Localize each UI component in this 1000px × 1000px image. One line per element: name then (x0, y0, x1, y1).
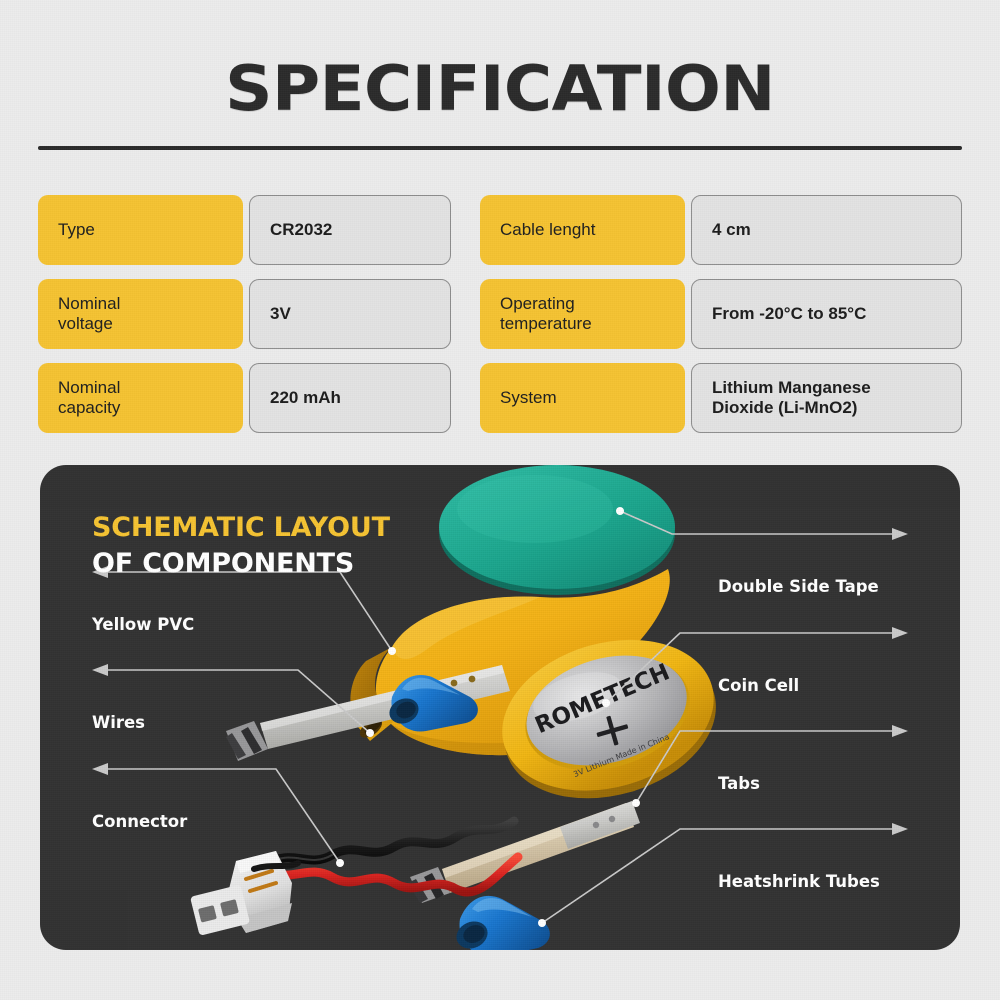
schematic-heading: SCHEMATIC LAYOUT OF COMPONENTS (92, 510, 390, 582)
callout-label-heatshrink-tubes: Heatshrink Tubes (718, 872, 880, 891)
spec-label-system: System (480, 363, 685, 433)
schematic-heading-line2: OF COMPONENTS (92, 546, 390, 582)
spec-value-operating-temperature: From -20°C to 85°C (691, 279, 962, 349)
infographic-page: SPECIFICATION Type CR2032 Cable lenght 4… (0, 0, 1000, 1000)
callout-label-tabs: Tabs (718, 774, 760, 793)
spec-value-system: Lithium ManganeseDioxide (Li-MnO2) (691, 363, 962, 433)
spec-value-nominal-capacity: 220 mAh (249, 363, 451, 433)
callout-label-coin-cell: Coin Cell (718, 676, 799, 695)
spec-value-cable-lenght: 4 cm (691, 195, 962, 265)
schematic-panel: ROMETECH 3V Lithium Made in China (40, 465, 960, 950)
spec-label-type: Type (38, 195, 243, 265)
schematic-heading-line1: SCHEMATIC LAYOUT (92, 510, 390, 546)
title-divider (38, 146, 962, 150)
callout-label-double-side-tape: Double Side Tape (718, 577, 879, 596)
callout-label-wires: Wires (92, 713, 145, 732)
spec-label-nominal-capacity: Nominalcapacity (38, 363, 243, 433)
spec-label-nominal-voltage: Nominalvoltage (38, 279, 243, 349)
callout-label-connector: Connector (92, 812, 187, 831)
spec-label-cable-lenght: Cable lenght (480, 195, 685, 265)
page-title: SPECIFICATION (0, 52, 1000, 125)
callout-label-yellow-pvc: Yellow PVC (92, 615, 194, 634)
spec-value-type: CR2032 (249, 195, 451, 265)
spec-table: Type CR2032 Cable lenght 4 cm Nominalvol… (38, 195, 962, 433)
spec-value-nominal-voltage: 3V (249, 279, 451, 349)
spec-label-operating-temperature: Operatingtemperature (480, 279, 685, 349)
